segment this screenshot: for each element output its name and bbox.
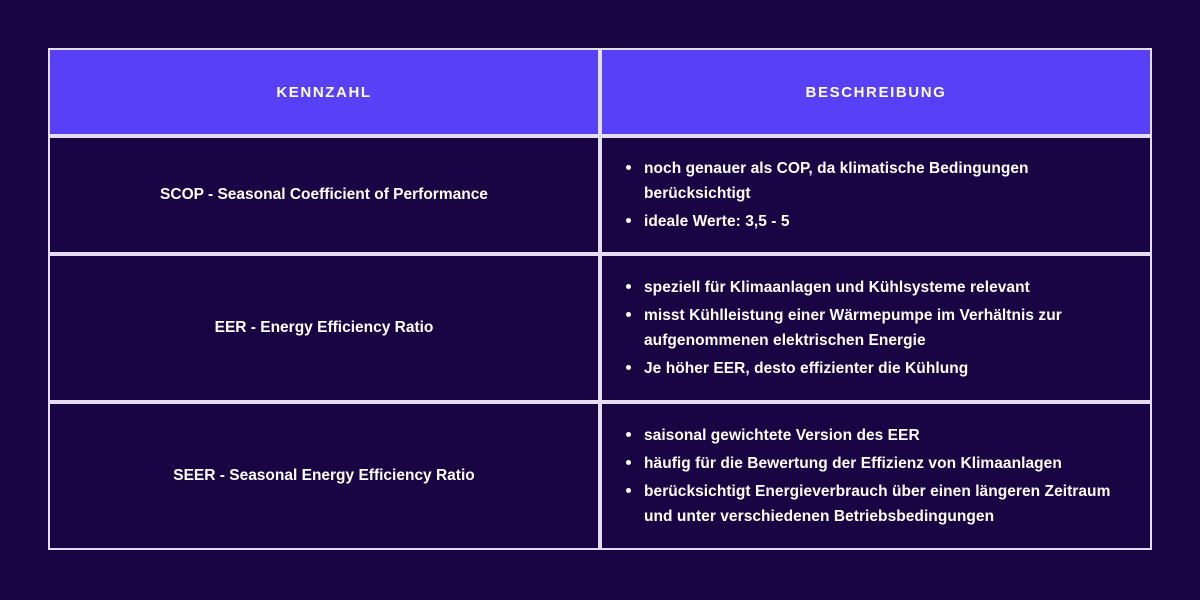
kpi-table-container: KENNZAHL BESCHREIBUNG SCOP - Seasonal Co… <box>48 48 1152 550</box>
kpi-description-cell: speziell für Klimaanlagen und Kühlsystem… <box>600 254 1152 402</box>
description-list: speziell für Klimaanlagen und Kühlsystem… <box>618 275 1132 381</box>
header-row: KENNZAHL BESCHREIBUNG <box>48 48 1152 136</box>
list-item-text: noch genauer als COP, da klimatische Bed… <box>644 160 1029 202</box>
kpi-description-cell: noch genauer als COP, da klimatische Bed… <box>600 136 1152 254</box>
column-header-kennzahl: KENNZAHL <box>48 48 600 136</box>
table-row: SCOP - Seasonal Coefficient of Performan… <box>48 136 1152 254</box>
list-item: berücksichtigt Energieverbrauch über ein… <box>618 479 1132 529</box>
list-item-text: berücksichtigt Energieverbrauch über ein… <box>644 483 1110 525</box>
table-row: EER - Energy Efficiency Ratio speziell f… <box>48 254 1152 402</box>
list-item-text: saisonal gewichtete Version des EER <box>644 427 920 444</box>
bullet-icon <box>626 165 631 170</box>
list-item-text: misst Kühlleistung einer Wärmepumpe im V… <box>644 307 1062 349</box>
bullet-icon <box>626 312 631 317</box>
bullet-icon <box>626 460 631 465</box>
list-item-text: häufig für die Bewertung der Effizienz v… <box>644 455 1062 472</box>
list-item-text: Je höher EER, desto effizienter die Kühl… <box>644 360 968 377</box>
bullet-icon <box>626 218 631 223</box>
bullet-icon <box>626 488 631 493</box>
kpi-name-cell: EER - Energy Efficiency Ratio <box>48 254 600 402</box>
kpi-name-cell: SCOP - Seasonal Coefficient of Performan… <box>48 136 600 254</box>
bullet-icon <box>626 365 631 370</box>
list-item: häufig für die Bewertung der Effizienz v… <box>618 451 1132 476</box>
list-item-text: speziell für Klimaanlagen und Kühlsystem… <box>644 279 1030 296</box>
list-item: Je höher EER, desto effizienter die Kühl… <box>618 356 1132 381</box>
list-item: ideale Werte: 3,5 - 5 <box>618 209 1132 234</box>
table-body: SCOP - Seasonal Coefficient of Performan… <box>48 136 1152 550</box>
column-header-beschreibung: BESCHREIBUNG <box>600 48 1152 136</box>
list-item: speziell für Klimaanlagen und Kühlsystem… <box>618 275 1132 300</box>
list-item: misst Kühlleistung einer Wärmepumpe im V… <box>618 303 1132 353</box>
list-item: saisonal gewichtete Version des EER <box>618 423 1132 448</box>
description-list: noch genauer als COP, da klimatische Bed… <box>618 156 1132 234</box>
bullet-icon <box>626 284 631 289</box>
table-header: KENNZAHL BESCHREIBUNG <box>48 48 1152 136</box>
kpi-name-cell: SEER - Seasonal Energy Efficiency Ratio <box>48 402 600 550</box>
table-row: SEER - Seasonal Energy Efficiency Ratio … <box>48 402 1152 550</box>
bullet-icon <box>626 432 631 437</box>
list-item-text: ideale Werte: 3,5 - 5 <box>644 213 790 230</box>
kpi-description-cell: saisonal gewichtete Version des EER häuf… <box>600 402 1152 550</box>
description-list: saisonal gewichtete Version des EER häuf… <box>618 423 1132 529</box>
kpi-table: KENNZAHL BESCHREIBUNG SCOP - Seasonal Co… <box>48 48 1152 550</box>
list-item: noch genauer als COP, da klimatische Bed… <box>618 156 1132 206</box>
